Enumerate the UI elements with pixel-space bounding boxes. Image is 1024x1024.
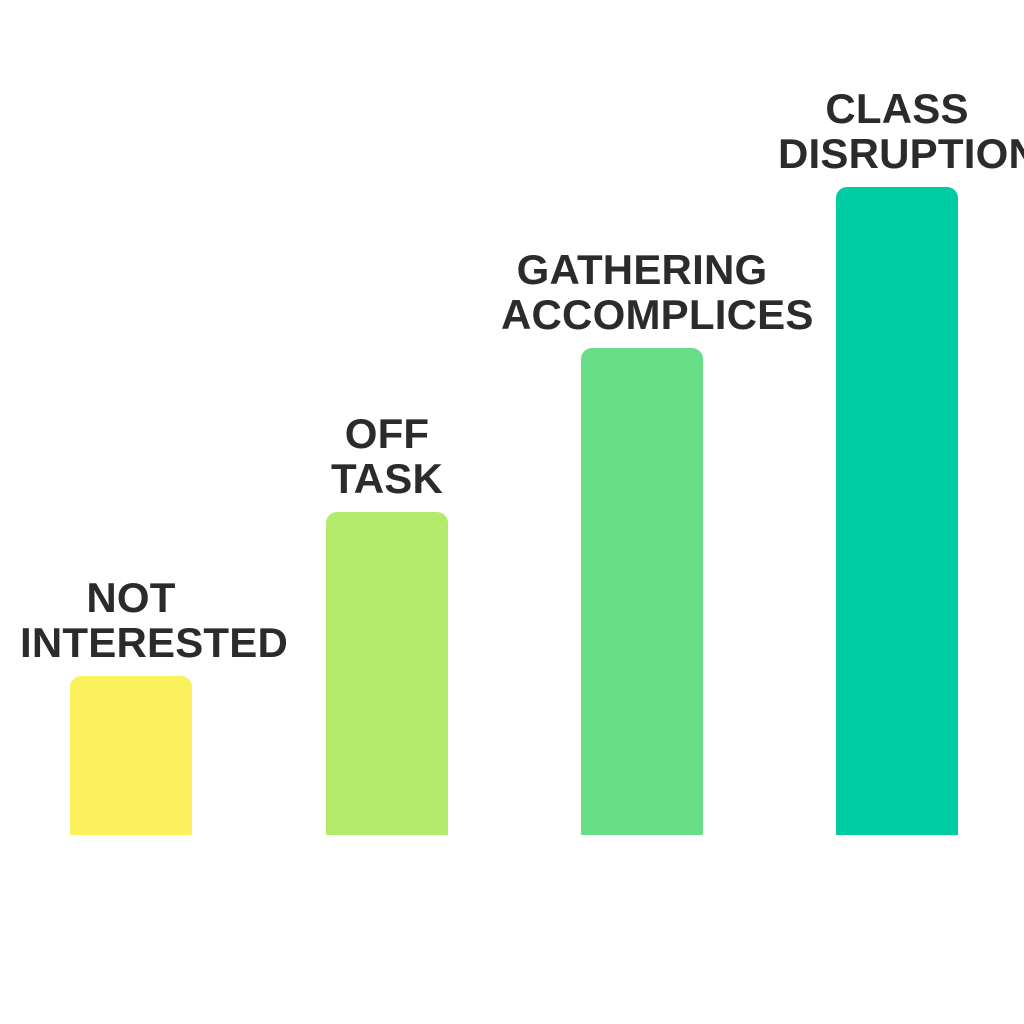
chart-canvas: NOT INTERESTED OFF TASK GATHERING ACCOMP… (0, 0, 1024, 1024)
bar-label-off-task: OFF TASK (287, 411, 487, 501)
bar-not-interested[interactable] (70, 676, 192, 835)
bar-gathering-accomplices[interactable] (581, 348, 703, 835)
bar-group-not-interested: NOT INTERESTED (70, 676, 192, 835)
bar-group-off-task: OFF TASK (326, 512, 448, 835)
bar-group-class-disruption: CLASS DISRUPTION (836, 187, 958, 835)
bar-off-task[interactable] (326, 512, 448, 835)
bar-label-class-disruption: CLASS DISRUPTION (778, 86, 1016, 176)
bar-chart: NOT INTERESTED OFF TASK GATHERING ACCOMP… (0, 0, 1024, 1024)
bar-label-gathering-accomplices: GATHERING ACCOMPLICES (501, 247, 783, 337)
bar-group-gathering-accomplices: GATHERING ACCOMPLICES (581, 348, 703, 835)
bar-class-disruption[interactable] (836, 187, 958, 835)
bar-label-not-interested: NOT INTERESTED (20, 575, 242, 665)
